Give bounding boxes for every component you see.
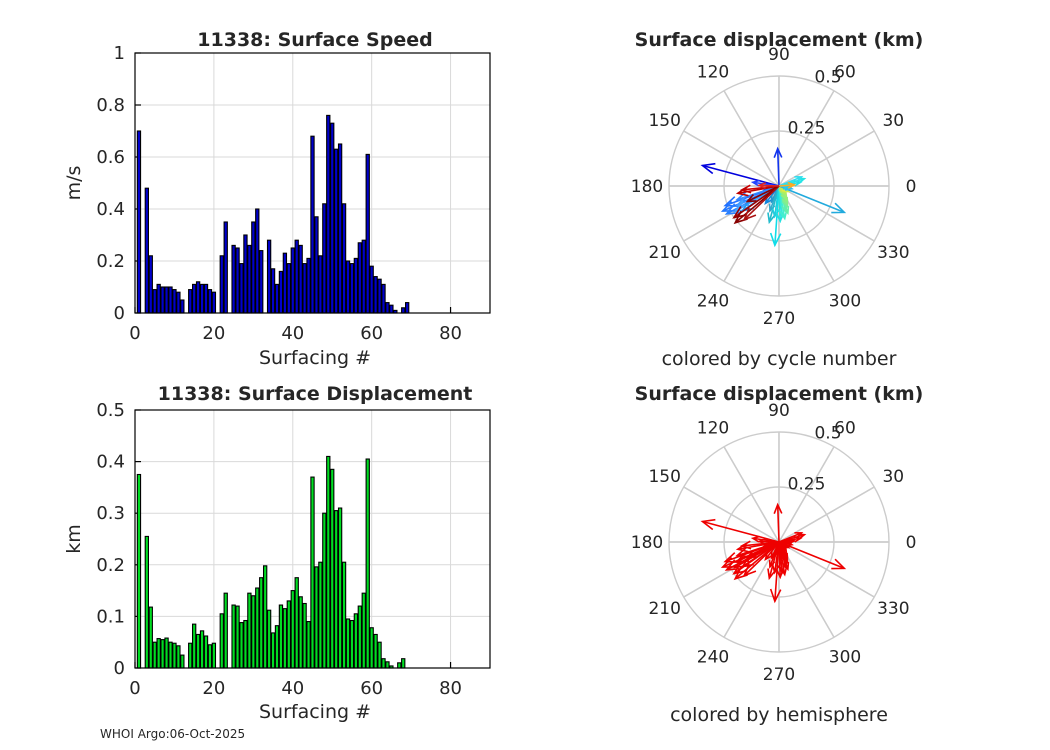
speed-panel-title: 11338: Surface Speed (197, 29, 432, 51)
polar-angle-label: 90 (768, 401, 790, 421)
bar (378, 279, 381, 313)
bar (260, 578, 263, 668)
bar (224, 593, 227, 668)
bar (232, 245, 235, 313)
y-tick-label: 0.5 (96, 400, 125, 421)
bar (350, 621, 353, 668)
y-tick-label: 0 (114, 303, 125, 324)
x-tick-label: 80 (439, 323, 462, 344)
polar-angle-label: 150 (648, 111, 680, 131)
bar (378, 642, 381, 668)
bar (374, 277, 377, 313)
y-tick-label: 0.2 (96, 555, 125, 576)
polar-angle-label: 30 (882, 467, 904, 487)
y-tick-label: 0.3 (96, 503, 125, 524)
bar (335, 149, 338, 313)
bar (236, 248, 239, 313)
bar (196, 282, 199, 313)
bar (275, 626, 278, 668)
bar (177, 292, 180, 313)
bar (264, 566, 267, 668)
bar (346, 619, 349, 668)
bar (193, 624, 196, 668)
bar (319, 562, 322, 668)
bar (173, 290, 176, 313)
bar (382, 659, 385, 668)
bar (338, 508, 341, 668)
displacement-y-tick-labels: 00.10.20.30.40.5 (96, 400, 125, 679)
argo-float-summary-figure: 11338: Surface Speed 00.20.40.60.81 0204… (0, 0, 1050, 750)
bar (161, 287, 164, 313)
bar (248, 593, 251, 668)
bar (204, 284, 207, 313)
x-tick-label: 20 (202, 323, 225, 344)
polar-angle-label: 90 (768, 45, 790, 65)
bar (279, 605, 282, 668)
bar (161, 640, 164, 668)
x-tick-label: 40 (281, 678, 304, 699)
polar-radial-label: 0.25 (788, 118, 826, 138)
panel-surface-displacement: 11338: Surface Displacement 00.10.20.30.… (63, 383, 490, 723)
footer-credit: WHOI Argo:06-Oct-2025 (100, 727, 245, 741)
bar (338, 144, 341, 313)
bar (295, 578, 298, 668)
x-tick-label: 20 (202, 678, 225, 699)
bar (267, 610, 270, 668)
polar-angle-label: 120 (697, 419, 729, 439)
bar (145, 188, 148, 313)
bar (331, 123, 334, 313)
bar (315, 217, 318, 313)
bar (342, 204, 345, 313)
bar (252, 596, 255, 668)
bar (323, 204, 326, 313)
bar (260, 251, 263, 313)
bar (358, 243, 361, 313)
bar (287, 601, 290, 668)
polar-angle-label: 210 (648, 243, 680, 263)
polar-angle-label: 210 (648, 599, 680, 619)
x-tick-label: 0 (129, 678, 140, 699)
bar (212, 292, 215, 313)
y-tick-label: 0.4 (96, 452, 125, 473)
bar (331, 469, 334, 668)
bar (200, 631, 203, 668)
bar (252, 222, 255, 313)
polar-angle-label: 240 (697, 291, 729, 311)
polar-angle-label: 150 (648, 467, 680, 487)
bar (244, 621, 247, 668)
bar (303, 604, 306, 669)
bar (342, 562, 345, 668)
bar (169, 642, 172, 668)
bar (193, 284, 196, 313)
x-tick-label: 60 (360, 323, 383, 344)
bar (346, 261, 349, 313)
bar (279, 271, 282, 313)
displacement-panel-title: 11338: Surface Displacement (158, 383, 473, 405)
bar (244, 235, 247, 313)
polar-angle-label: 30 (882, 111, 904, 131)
bar (358, 606, 361, 668)
panel-polar-cycle: Surface displacement (km) 03060901201501… (631, 29, 924, 370)
bar (208, 645, 211, 668)
bar (307, 258, 310, 313)
bar (145, 536, 148, 668)
panel-polar-hemisphere: Surface displacement (km) 03060901201501… (631, 383, 924, 726)
bar (165, 287, 168, 313)
vector-shaft (703, 522, 780, 543)
polar-angle-label: 270 (763, 665, 795, 685)
bar (390, 305, 393, 313)
bar (157, 639, 160, 668)
bar (267, 240, 270, 313)
bar (220, 614, 223, 668)
polar-angle-label: 330 (877, 599, 909, 619)
bar (354, 614, 357, 668)
displacement-bar-series (137, 456, 405, 668)
bar (173, 643, 176, 668)
bar (327, 115, 330, 313)
y-tick-label: 0.6 (96, 147, 125, 168)
bar (327, 456, 330, 668)
bar (271, 633, 274, 668)
bar (295, 240, 298, 313)
vector-shaft (703, 166, 780, 187)
y-tick-label: 0.4 (96, 199, 125, 220)
polar-angle-label: 0 (906, 533, 917, 553)
polar-angle-label: 180 (631, 177, 663, 197)
figure-canvas: 11338: Surface Speed 00.20.40.60.81 0204… (0, 0, 1050, 750)
bar (224, 222, 227, 313)
bar (212, 643, 215, 668)
bar (374, 634, 377, 668)
x-tick-label: 40 (281, 323, 304, 344)
bar (311, 136, 314, 313)
bar (275, 284, 278, 313)
polar-angle-label: 120 (697, 63, 729, 83)
bar (398, 663, 401, 668)
bar (153, 642, 156, 668)
bar (311, 477, 314, 668)
polar-radial-label: 0.5 (814, 68, 841, 88)
polar-cycle-caption: colored by cycle number (662, 348, 897, 370)
bar (299, 597, 302, 668)
bar (350, 264, 353, 313)
bar (153, 290, 156, 313)
bar (189, 643, 192, 668)
bar (149, 607, 152, 668)
y-tick-label: 0 (114, 658, 125, 679)
bar (307, 622, 310, 668)
bar (236, 606, 239, 668)
bar (402, 659, 405, 668)
bar (323, 513, 326, 668)
bar (240, 623, 243, 668)
displacement-x-tick-labels: 020406080 (129, 678, 462, 699)
bar (200, 284, 203, 313)
panel-surface-speed: 11338: Surface Speed 00.20.40.60.81 0204… (63, 29, 490, 369)
y-tick-label: 0.8 (96, 95, 125, 116)
speed-bar-series (137, 115, 408, 313)
polar-angle-label: 330 (877, 243, 909, 263)
x-tick-label: 0 (129, 323, 140, 344)
bar (165, 638, 168, 668)
bar (386, 662, 389, 668)
displacement-x-axis-label: Surfacing # (259, 701, 371, 723)
bar (386, 303, 389, 313)
bar (248, 245, 251, 313)
bar (370, 628, 373, 668)
displacement-y-axis-label: km (63, 524, 85, 554)
polar-angle-label: 0 (906, 177, 917, 197)
polar-angle-label: 270 (763, 309, 795, 329)
bar (299, 245, 302, 313)
bar (287, 264, 290, 313)
bar (362, 240, 365, 313)
bar (366, 154, 369, 313)
bar (315, 567, 318, 668)
x-tick-label: 80 (439, 678, 462, 699)
bar (291, 248, 294, 313)
polar-angle-label: 300 (829, 647, 861, 667)
polar-angle-label: 180 (631, 533, 663, 553)
bar (256, 588, 259, 668)
bar (232, 605, 235, 668)
bar (256, 209, 259, 313)
bar (220, 256, 223, 313)
x-tick-label: 60 (360, 678, 383, 699)
bar (137, 131, 140, 313)
bar (169, 287, 172, 313)
polar-hemisphere-vectors (703, 505, 845, 602)
polar-angle-label: 300 (829, 291, 861, 311)
polar-cycle-vectors (703, 149, 845, 246)
bar (362, 593, 365, 668)
y-tick-label: 1 (114, 43, 125, 64)
bar (208, 290, 211, 313)
bar (382, 284, 385, 313)
speed-y-tick-labels: 00.20.40.60.81 (96, 43, 125, 324)
bar (402, 308, 405, 313)
speed-x-axis-label: Surfacing # (259, 347, 371, 369)
polar-radial-label: 0.25 (788, 474, 826, 494)
bar (354, 258, 357, 313)
bar (303, 264, 306, 313)
bar (291, 591, 294, 668)
bar (177, 646, 180, 668)
bar (319, 256, 322, 313)
bar (181, 655, 184, 668)
bar (406, 303, 409, 313)
speed-x-tick-labels: 020406080 (129, 323, 462, 344)
bar (149, 256, 152, 313)
y-tick-label: 0.1 (96, 606, 125, 627)
bar (283, 609, 286, 668)
polar-radial-label: 0.5 (814, 424, 841, 444)
polar-hemisphere-caption: colored by hemisphere (670, 704, 888, 726)
bar (240, 264, 243, 313)
bar (283, 253, 286, 313)
bar (189, 290, 192, 313)
bar (366, 459, 369, 668)
bar (196, 634, 199, 668)
bar (335, 511, 338, 668)
bar (137, 475, 140, 669)
bar (157, 284, 160, 313)
bar (370, 266, 373, 313)
speed-y-axis-label: m/s (63, 166, 85, 201)
bar (271, 269, 274, 313)
bar (181, 300, 184, 313)
polar-angle-label: 240 (697, 647, 729, 667)
y-tick-label: 0.2 (96, 251, 125, 272)
bar (204, 636, 207, 668)
